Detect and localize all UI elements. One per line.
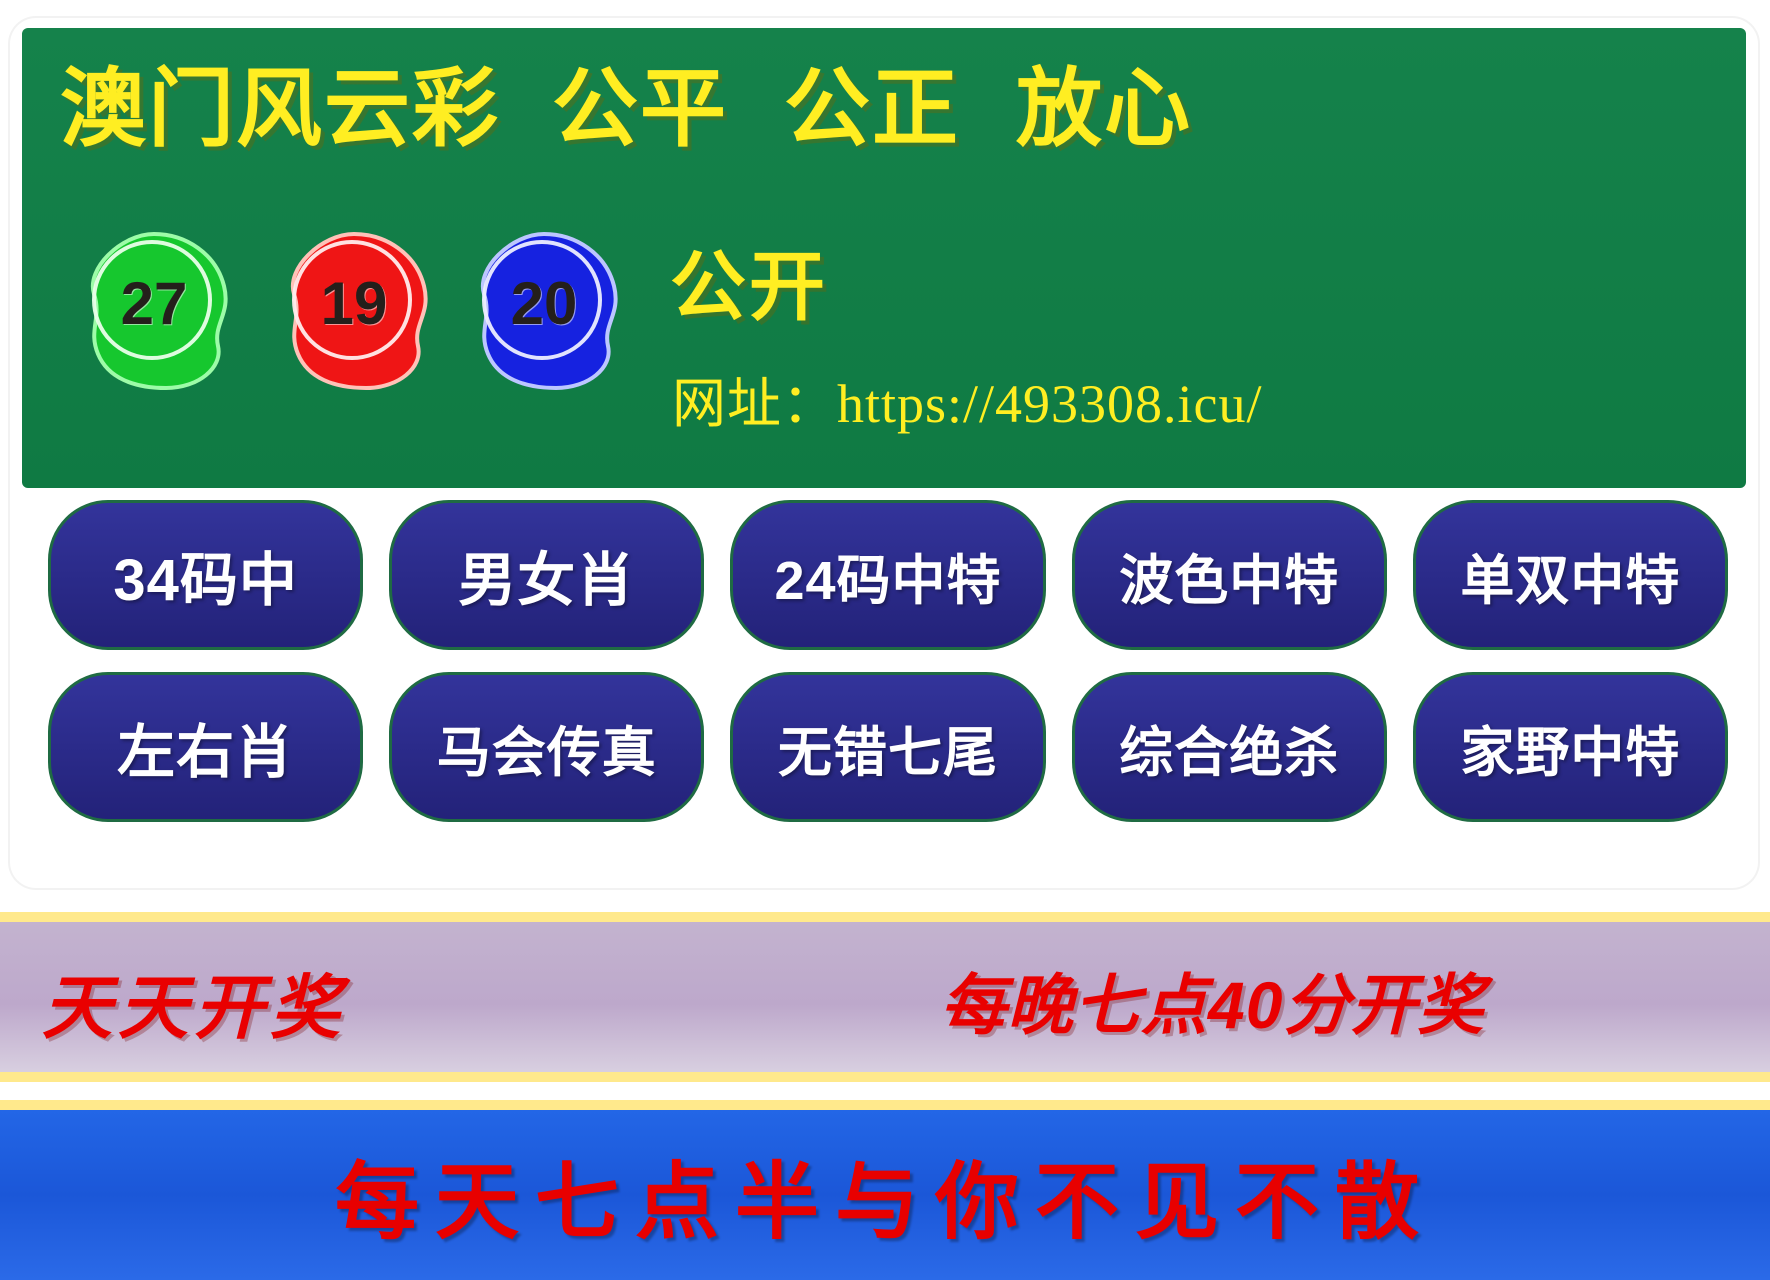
pill-bose-zhongte[interactable]: 波色中特: [1072, 500, 1387, 650]
category-row-2: 左右肖 马会传真 无错七尾 综合绝杀 家野中特: [48, 672, 1728, 822]
pill-34ma-zhong[interactable]: 34码中: [48, 500, 363, 650]
lottery-ball-green: 27: [74, 228, 234, 393]
pill-nannvxiao[interactable]: 男女肖: [389, 500, 704, 650]
ball-number: 20: [464, 228, 624, 393]
category-row-1: 34码中 男女肖 24码中特 波色中特 单双中特: [48, 500, 1728, 650]
bottom-tagline-text: 每天七点半与你不见不散: [335, 1135, 1435, 1256]
pill-wucuo-qiwei[interactable]: 无错七尾: [730, 672, 1045, 822]
lottery-ball-red: 19: [274, 228, 434, 393]
bottom-tagline-banner: 每天七点半与你不见不散: [0, 1100, 1770, 1280]
pill-danshuang-zhongte[interactable]: 单双中特: [1413, 500, 1728, 650]
pill-24ma-zhongte[interactable]: 24码中特: [730, 500, 1045, 650]
pill-mahui-chuanzhen[interactable]: 马会传真: [389, 672, 704, 822]
slogan-fair: 公平: [552, 61, 728, 157]
main-card: 澳门风云彩公平公正放心 27 19: [10, 18, 1758, 888]
lottery-ball-blue: 20: [464, 228, 624, 393]
slogan-just: 公正: [784, 61, 960, 157]
category-grid: 34码中 男女肖 24码中特 波色中特 单双中特 左右肖 马会传真 无错七尾 综…: [48, 500, 1728, 844]
daily-draw-text: 天天开奖: [42, 952, 346, 1053]
headline: 澳门风云彩公平公正放心: [60, 66, 1192, 152]
website-label: 网址：: [672, 374, 837, 434]
website-line: 网址：https://493308.icu/: [672, 376, 1263, 433]
ball-number: 27: [74, 228, 234, 393]
lottery-ball-group: 27 19 20: [74, 228, 674, 408]
promo-page: 澳门风云彩公平公正放心 27 19: [0, 0, 1770, 1280]
draw-schedule-banner: 天天开奖 每晚七点40分开奖: [0, 912, 1770, 1082]
pill-jiaye-zhongte[interactable]: 家野中特: [1413, 672, 1728, 822]
public-label: 公开: [670, 250, 828, 326]
pill-zonghe-juesha[interactable]: 综合绝杀: [1072, 672, 1387, 822]
draw-time-text: 每晚七点40分开奖: [940, 952, 1484, 1048]
website-url[interactable]: https://493308.icu/: [837, 374, 1263, 434]
green-header-panel: 澳门风云彩公平公正放心 27 19: [22, 28, 1746, 488]
slogan-relax: 放心: [1016, 61, 1192, 157]
brand-title: 澳门风云彩: [60, 61, 500, 157]
pill-zuoyouxiao[interactable]: 左右肖: [48, 672, 363, 822]
ball-number: 19: [274, 228, 434, 393]
